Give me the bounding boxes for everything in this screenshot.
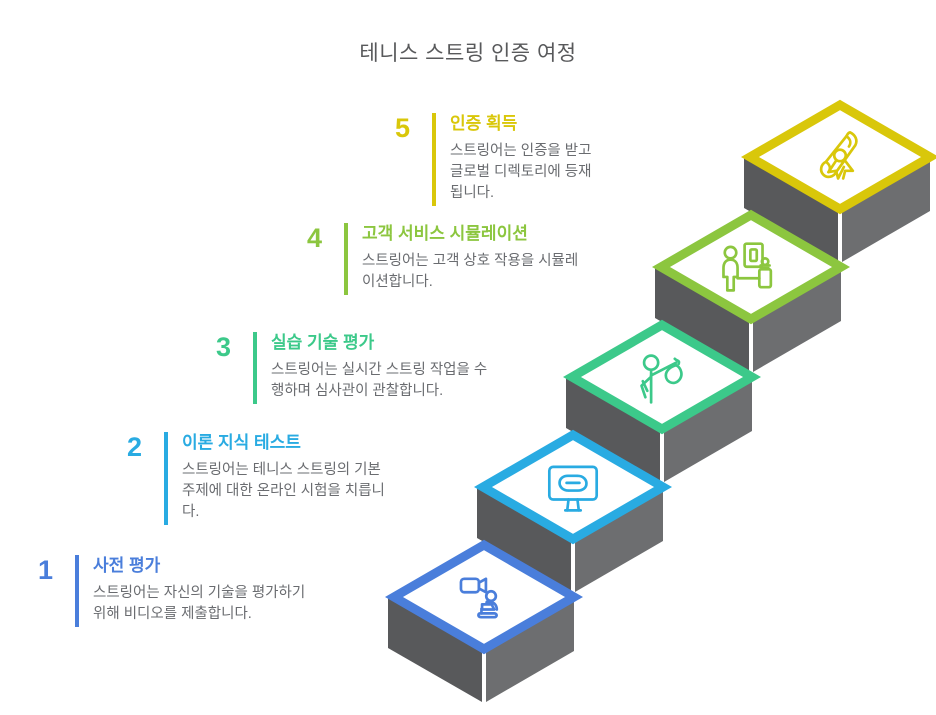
step-2-diamond-top (483, 435, 663, 539)
step-block-4 (655, 215, 841, 372)
step-4-left-face (655, 268, 749, 372)
step-description-4: 스트링어는 고객 상호 작용을 시뮬레이션합니다. (362, 251, 582, 293)
step-3-left-face (566, 378, 660, 482)
step-item-3: 3 실습 기술 평가 스트링어는 실시간 스트링 작업을 수행하며 심사관이 관… (205, 332, 490, 404)
step-block-5 (744, 105, 930, 262)
page-title: 테니스 스트링 인증 여정 (0, 40, 936, 67)
step-block-1 (388, 545, 574, 702)
step-5-diamond-top (750, 105, 930, 209)
step-1-right-face (486, 601, 574, 702)
person-service-desk-icon (723, 244, 770, 291)
step-description-5: 스트링어는 인증을 받고 글로벌 디렉토리에 등재됩니다. (450, 141, 600, 204)
step-number-4: 4 (296, 225, 322, 252)
video-camera-person-laptop-icon (461, 579, 497, 617)
step-item-5: 5 인증 획득 스트링어는 인증을 받고 글로벌 디렉토리에 등재됩니다. (384, 113, 600, 206)
step-accent-bar-2 (164, 432, 168, 525)
step-5-right-face (842, 161, 930, 262)
monitor-link-icon (549, 467, 596, 511)
step-number-1: 1 (27, 557, 53, 584)
step-accent-bar-3 (253, 332, 257, 404)
step-5-left-face (744, 158, 838, 262)
step-4-right-face (753, 271, 841, 372)
step-item-4: 4 고객 서비스 시뮬레이션 스트링어는 고객 상호 작용을 시뮬레이션합니다. (296, 223, 582, 295)
step-item-1: 1 사전 평가 스트링어는 자신의 기술을 평가하기 위해 비디오를 제출합니다… (27, 555, 307, 627)
step-heading-5: 인증 획득 (450, 113, 600, 134)
step-heading-3: 실습 기술 평가 (271, 332, 490, 353)
step-description-3: 스트링어는 실시간 스트링 작업을 수행하며 심사관이 관찰합니다. (271, 360, 490, 402)
step-block-2 (477, 435, 663, 592)
diploma-ribbon-icon (821, 132, 856, 178)
step-number-3: 3 (205, 334, 231, 361)
step-block-3 (566, 325, 752, 482)
step-item-2: 2 이론 지식 테스트 스트링어는 테니스 스트링의 기본 주제에 대한 온라인… (116, 432, 396, 525)
step-heading-4: 고객 서비스 시뮬레이션 (362, 223, 582, 244)
step-4-diamond-top (661, 215, 841, 319)
step-1-diamond-top (394, 545, 574, 649)
step-accent-bar-5 (432, 113, 436, 206)
step-accent-bar-1 (75, 555, 79, 627)
step-description-2: 스트링어는 테니스 스트링의 기본 주제에 대한 온라인 시험을 치릅니다. (182, 460, 396, 523)
step-description-1: 스트링어는 자신의 기술을 평가하기 위해 비디오를 제출합니다. (93, 583, 307, 625)
step-heading-1: 사전 평가 (93, 555, 307, 576)
step-1-left-face (388, 598, 482, 702)
step-2-right-face (575, 491, 663, 592)
person-with-bundle-icon (642, 356, 682, 403)
step-heading-2: 이론 지식 테스트 (182, 432, 396, 453)
step-2-left-face (477, 488, 571, 592)
step-3-right-face (664, 381, 752, 482)
step-accent-bar-4 (344, 223, 348, 295)
step-3-diamond-top (572, 325, 752, 429)
step-number-5: 5 (384, 115, 410, 142)
step-number-2: 2 (116, 434, 142, 461)
